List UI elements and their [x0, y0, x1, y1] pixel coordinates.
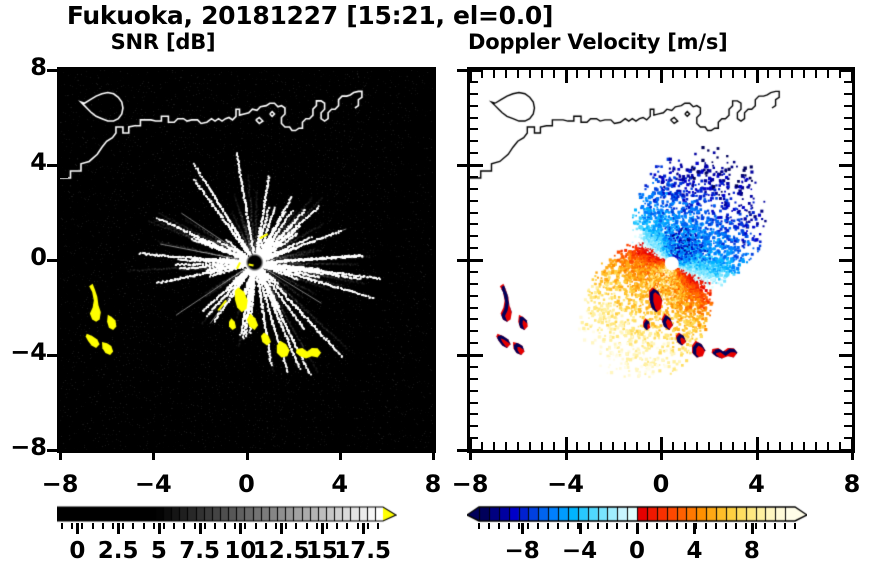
axis-tick — [397, 442, 399, 450]
axis-tick — [60, 402, 68, 404]
axis-tick — [576, 70, 578, 78]
axis-tick — [844, 152, 852, 154]
axis-tick — [844, 378, 852, 380]
axis-tick — [234, 70, 236, 78]
doppler-colorbar-minor-tick — [646, 523, 648, 529]
snr-colorbar-minor-tick — [234, 523, 236, 529]
axis-tick — [420, 164, 433, 167]
snr-colorbar-minor-tick — [346, 523, 348, 529]
axis-tick — [60, 437, 68, 439]
axis-tick — [425, 342, 433, 344]
doppler-colorbar-minor-tick — [587, 523, 589, 529]
axis-tick — [827, 442, 829, 450]
axis-tick — [839, 259, 852, 262]
axis-tick — [60, 259, 73, 262]
doppler-colorbar-minor-tick — [537, 523, 539, 529]
doppler-colorbar-minor-tick — [794, 523, 796, 529]
axis-tick — [470, 425, 478, 427]
axis-tick — [60, 235, 68, 237]
axis-tick — [60, 318, 68, 320]
snr-colorbar-minor-tick — [143, 523, 145, 529]
axis-tick — [696, 70, 698, 78]
snr-colorbar-minor-tick — [102, 523, 104, 529]
axis-tick — [106, 70, 108, 78]
doppler-colorbar-tick — [521, 523, 524, 534]
axis-tick — [246, 450, 249, 460]
axis-tick — [844, 200, 852, 202]
axis-tick — [470, 223, 478, 225]
doppler-colorbar-tick — [579, 523, 582, 534]
axis-tick — [844, 390, 852, 392]
snr-colorbar-tick — [117, 523, 120, 534]
axis-tick — [672, 442, 674, 450]
doppler-colorbar-minor-tick — [685, 523, 687, 529]
axis-tick — [493, 70, 495, 78]
snr-colorbar-minor-tick — [194, 523, 196, 529]
axis-tick — [505, 70, 507, 78]
axis-tick — [425, 378, 433, 380]
axis-tick — [60, 200, 68, 202]
axis-tick — [425, 152, 433, 154]
axis-tick — [60, 93, 68, 95]
axis-tick — [60, 117, 68, 119]
axis-tick — [280, 442, 282, 450]
axis-tick — [779, 70, 781, 78]
axis-tick — [636, 442, 638, 450]
axis-tick — [660, 450, 663, 460]
snr-plot-panel[interactable] — [57, 67, 436, 453]
axis-tick — [327, 442, 329, 450]
axis-tick — [432, 437, 435, 450]
doppler-colorbar-minor-tick — [606, 523, 608, 529]
axis-tick — [60, 342, 68, 344]
axis-tick — [457, 449, 467, 452]
axis-tick — [803, 70, 805, 78]
doppler-colorbar-minor-tick — [527, 523, 529, 529]
axis-tick — [844, 247, 852, 249]
axis-tick — [47, 449, 57, 452]
axis-tick — [129, 70, 131, 78]
axis-tick — [187, 442, 189, 450]
axis-tick — [844, 342, 852, 344]
doppler-colorbar-minor-tick — [745, 523, 747, 529]
axis-tick — [60, 105, 68, 107]
axis-tick — [432, 450, 435, 460]
axis-tick — [470, 437, 478, 439]
axis-tick — [767, 70, 769, 78]
axis-tick — [565, 437, 568, 450]
snr-colorbar-minor-tick — [112, 523, 114, 529]
axis-tick — [374, 442, 376, 450]
doppler-colorbar-minor-tick — [547, 523, 549, 529]
axis-tick — [470, 247, 478, 249]
axis-tick — [565, 70, 568, 83]
snr-colorbar-minor-tick — [357, 523, 359, 529]
axis-tick — [660, 437, 663, 450]
axis-tick — [553, 70, 555, 78]
axis-tick — [199, 70, 201, 78]
axis-tick — [425, 176, 433, 178]
doppler-xtick-label: 4 — [727, 470, 787, 498]
snr-colorbar-minor-tick — [214, 523, 216, 529]
axis-tick — [720, 70, 722, 78]
axis-tick — [292, 70, 294, 78]
doppler-panel-title: Doppler Velocity [m/s] — [468, 30, 870, 54]
axis-tick — [339, 450, 342, 460]
doppler-xtick-label: 0 — [631, 470, 691, 498]
doppler-colorbar-minor-tick — [755, 523, 757, 529]
axis-tick — [425, 366, 433, 368]
axis-tick — [327, 70, 329, 78]
snr-colorbar-tick — [76, 523, 79, 534]
axis-tick — [827, 70, 829, 78]
axis-tick — [60, 413, 68, 415]
axis-tick — [199, 442, 201, 450]
doppler-colorbar-minor-tick — [695, 523, 697, 529]
axis-tick — [339, 437, 342, 450]
axis-tick — [176, 442, 178, 450]
axis-tick — [844, 318, 852, 320]
snr-colorbar-minor-tick — [92, 523, 94, 529]
axis-tick — [304, 442, 306, 450]
axis-tick — [684, 442, 686, 450]
axis-tick — [176, 70, 178, 78]
axis-tick — [457, 354, 467, 357]
page-title: Fukuoka, 20181227 [15:21, el=0.0] — [0, 1, 620, 30]
axis-tick — [470, 330, 478, 332]
axis-tick — [82, 70, 84, 78]
axis-tick — [844, 128, 852, 130]
axis-tick — [470, 140, 478, 142]
axis-tick — [844, 235, 852, 237]
axis-tick — [648, 70, 650, 78]
axis-tick — [60, 128, 68, 130]
axis-tick — [470, 176, 478, 178]
snr-colorbar-minor-tick — [285, 523, 287, 529]
axis-tick — [362, 70, 364, 78]
axis-tick — [246, 437, 249, 450]
snr-colorbar-tick — [280, 523, 283, 534]
axis-tick — [815, 442, 817, 450]
snr-xtick-label: −8 — [30, 470, 90, 498]
snr-colorbar-minor-tick — [377, 523, 379, 529]
axis-tick — [612, 442, 614, 450]
axis-tick — [844, 307, 852, 309]
doppler-xtick-label: 8 — [822, 470, 870, 498]
axis-tick — [708, 442, 710, 450]
axis-tick — [779, 442, 781, 450]
axis-tick — [470, 283, 478, 285]
axis-tick — [844, 425, 852, 427]
axis-tick — [844, 176, 852, 178]
axis-tick — [470, 390, 478, 392]
axis-tick — [839, 164, 852, 167]
axis-tick — [470, 235, 478, 237]
axis-tick — [470, 117, 478, 119]
snr-xtick-label: −4 — [123, 470, 183, 498]
axis-tick — [60, 390, 68, 392]
axis-tick — [350, 442, 352, 450]
snr-ytick-label: 8 — [1, 53, 47, 81]
axis-tick — [803, 442, 805, 450]
axis-tick — [60, 223, 68, 225]
snr-colorbar-minor-tick — [295, 523, 297, 529]
axis-tick — [60, 69, 73, 72]
snr-colorbar-tick — [199, 523, 202, 534]
axis-tick — [425, 247, 433, 249]
axis-tick — [409, 70, 411, 78]
axis-tick — [517, 442, 519, 450]
axis-tick — [844, 117, 852, 119]
doppler-colorbar-label: 8 — [712, 538, 792, 564]
axis-tick — [47, 164, 57, 167]
axis-tick — [844, 330, 852, 332]
snr-xtick-label: 0 — [217, 470, 277, 498]
axis-tick — [576, 442, 578, 450]
axis-tick — [470, 93, 478, 95]
axis-tick — [529, 70, 531, 78]
doppler-colorbar-minor-tick — [784, 523, 786, 529]
snr-colorbar-minor-tick — [306, 523, 308, 529]
axis-tick — [505, 442, 507, 450]
axis-tick — [425, 200, 433, 202]
snr-ytick-label: 4 — [1, 148, 47, 176]
axis-tick — [425, 283, 433, 285]
axis-tick — [141, 442, 143, 450]
axis-tick — [470, 307, 478, 309]
axis-tick — [470, 200, 478, 202]
axis-tick — [756, 437, 759, 450]
axis-tick — [470, 69, 483, 72]
snr-colorbar-minor-tick — [326, 523, 328, 529]
axis-tick — [470, 413, 478, 415]
axis-tick — [844, 223, 852, 225]
axis-tick — [152, 437, 155, 450]
doppler-colorbar-minor-tick — [725, 523, 727, 529]
axis-tick — [164, 442, 166, 450]
snr-radar-image — [60, 70, 433, 450]
axis-tick — [470, 212, 478, 214]
doppler-plot-panel[interactable] — [467, 67, 855, 453]
snr-panel-title: SNR [dB] — [58, 30, 268, 54]
axis-tick — [844, 366, 852, 368]
snr-colorbar-tick — [239, 523, 242, 534]
doppler-colorbar-minor-tick — [676, 523, 678, 529]
axis-tick — [425, 390, 433, 392]
axis-tick — [106, 442, 108, 450]
axis-tick — [672, 70, 674, 78]
axis-tick — [708, 70, 710, 78]
axis-tick — [425, 117, 433, 119]
axis-tick — [732, 70, 734, 78]
snr-colorbar-minor-tick — [163, 523, 165, 529]
axis-tick — [457, 259, 467, 262]
axis-tick — [844, 93, 852, 95]
axis-tick — [425, 93, 433, 95]
axis-tick — [425, 223, 433, 225]
axis-tick — [815, 70, 817, 78]
axis-tick — [222, 442, 224, 450]
axis-tick — [60, 295, 68, 297]
doppler-colorbar-minor-tick — [636, 523, 638, 529]
axis-tick — [292, 442, 294, 450]
axis-tick — [425, 330, 433, 332]
axis-tick — [60, 188, 68, 190]
axis-tick — [470, 318, 478, 320]
axis-tick — [425, 128, 433, 130]
axis-tick — [425, 271, 433, 273]
axis-tick — [517, 70, 519, 78]
axis-tick — [94, 442, 96, 450]
axis-tick — [470, 402, 478, 404]
snr-colorbar-minor-tick — [275, 523, 277, 529]
axis-tick — [234, 442, 236, 450]
axis-tick — [420, 354, 433, 357]
axis-tick — [211, 70, 213, 78]
axis-tick — [129, 442, 131, 450]
axis-tick — [470, 164, 483, 167]
axis-tick — [839, 442, 841, 450]
snr-colorbar-minor-tick — [204, 523, 206, 529]
axis-tick — [280, 70, 282, 78]
axis-tick — [565, 450, 568, 460]
axis-tick — [648, 442, 650, 450]
doppler-colorbar-minor-tick — [715, 523, 717, 529]
axis-tick — [94, 70, 96, 78]
axis-tick — [425, 318, 433, 320]
axis-tick — [470, 105, 478, 107]
axis-tick — [385, 442, 387, 450]
axis-tick — [152, 450, 155, 460]
axis-tick — [117, 70, 119, 78]
doppler-colorbar-minor-tick — [774, 523, 776, 529]
snr-colorbar-minor-tick — [61, 523, 63, 529]
axis-tick — [470, 271, 478, 273]
axis-tick — [60, 140, 68, 142]
axis-tick — [756, 450, 759, 460]
snr-colorbar-minor-tick — [336, 523, 338, 529]
axis-tick — [588, 70, 590, 78]
axis-tick — [269, 70, 271, 78]
axis-tick — [660, 70, 663, 83]
axis-tick — [425, 235, 433, 237]
doppler-colorbar-minor-tick — [478, 523, 480, 529]
axis-tick — [744, 70, 746, 78]
snr-colorbar-minor-tick — [316, 523, 318, 529]
axis-tick — [187, 70, 189, 78]
axis-tick — [470, 342, 478, 344]
snr-colorbar-minor-tick — [224, 523, 226, 529]
axis-tick — [425, 212, 433, 214]
snr-colorbar-minor-tick — [183, 523, 185, 529]
snr-colorbar-tick — [362, 523, 365, 534]
axis-tick — [409, 442, 411, 450]
radar-figure: Fukuoka, 20181227 [15:21, el=0.0] SNR [d… — [0, 0, 870, 570]
axis-tick — [315, 442, 317, 450]
axis-tick — [425, 413, 433, 415]
doppler-colorbar-minor-tick — [764, 523, 766, 529]
axis-tick — [481, 442, 483, 450]
axis-tick — [493, 442, 495, 450]
axis-tick — [844, 140, 852, 142]
axis-tick — [425, 105, 433, 107]
axis-tick — [732, 442, 734, 450]
axis-tick — [60, 307, 68, 309]
snr-xtick-label: 4 — [310, 470, 370, 498]
axis-tick — [60, 152, 68, 154]
axis-tick — [470, 81, 478, 83]
snr-ytick-label: −8 — [1, 433, 47, 461]
axis-tick — [350, 70, 352, 78]
axis-tick — [470, 295, 478, 297]
snr-colorbar-minor-tick — [244, 523, 246, 529]
axis-tick — [47, 354, 57, 357]
axis-tick — [470, 378, 478, 380]
snr-colorbar-label: 17.5 — [323, 538, 403, 564]
axis-tick — [60, 378, 68, 380]
axis-tick — [844, 413, 852, 415]
doppler-colorbar-minor-tick — [577, 523, 579, 529]
axis-tick — [470, 366, 478, 368]
axis-tick — [47, 259, 57, 262]
axis-tick — [60, 81, 68, 83]
axis-tick — [844, 402, 852, 404]
axis-tick — [71, 442, 73, 450]
doppler-colorbar-minor-tick — [705, 523, 707, 529]
axis-tick — [425, 295, 433, 297]
axis-tick — [211, 442, 213, 450]
axis-tick — [47, 69, 57, 72]
axis-tick — [553, 442, 555, 450]
axis-tick — [696, 442, 698, 450]
axis-tick — [117, 442, 119, 450]
axis-tick — [457, 164, 467, 167]
axis-tick — [425, 402, 433, 404]
snr-colorbar-tick — [321, 523, 324, 534]
axis-tick — [470, 128, 478, 130]
doppler-colorbar-minor-tick — [656, 523, 658, 529]
axis-tick — [624, 70, 626, 78]
axis-tick — [269, 442, 271, 450]
snr-colorbar-tick — [158, 523, 161, 534]
axis-tick — [60, 366, 68, 368]
axis-tick — [767, 442, 769, 450]
axis-tick — [315, 70, 317, 78]
doppler-radar-image — [470, 70, 852, 450]
axis-tick — [470, 354, 483, 357]
axis-tick — [425, 425, 433, 427]
axis-tick — [684, 70, 686, 78]
snr-colorbar-minor-tick — [173, 523, 175, 529]
snr-colorbar-minor-tick — [255, 523, 257, 529]
axis-tick — [791, 442, 793, 450]
snr-xtick-label: 8 — [403, 470, 463, 498]
axis-tick — [420, 69, 433, 72]
snr-ytick-label: 0 — [1, 243, 47, 271]
axis-tick — [82, 442, 84, 450]
axis-tick — [470, 188, 478, 190]
axis-tick — [425, 140, 433, 142]
doppler-colorbar-minor-tick — [518, 523, 520, 529]
doppler-colorbar-minor-tick — [567, 523, 569, 529]
axis-tick — [844, 295, 852, 297]
axis-tick — [152, 70, 155, 83]
axis-tick — [246, 70, 249, 83]
axis-tick — [791, 70, 793, 78]
axis-tick — [397, 70, 399, 78]
axis-tick — [756, 70, 759, 83]
axis-tick — [60, 283, 68, 285]
